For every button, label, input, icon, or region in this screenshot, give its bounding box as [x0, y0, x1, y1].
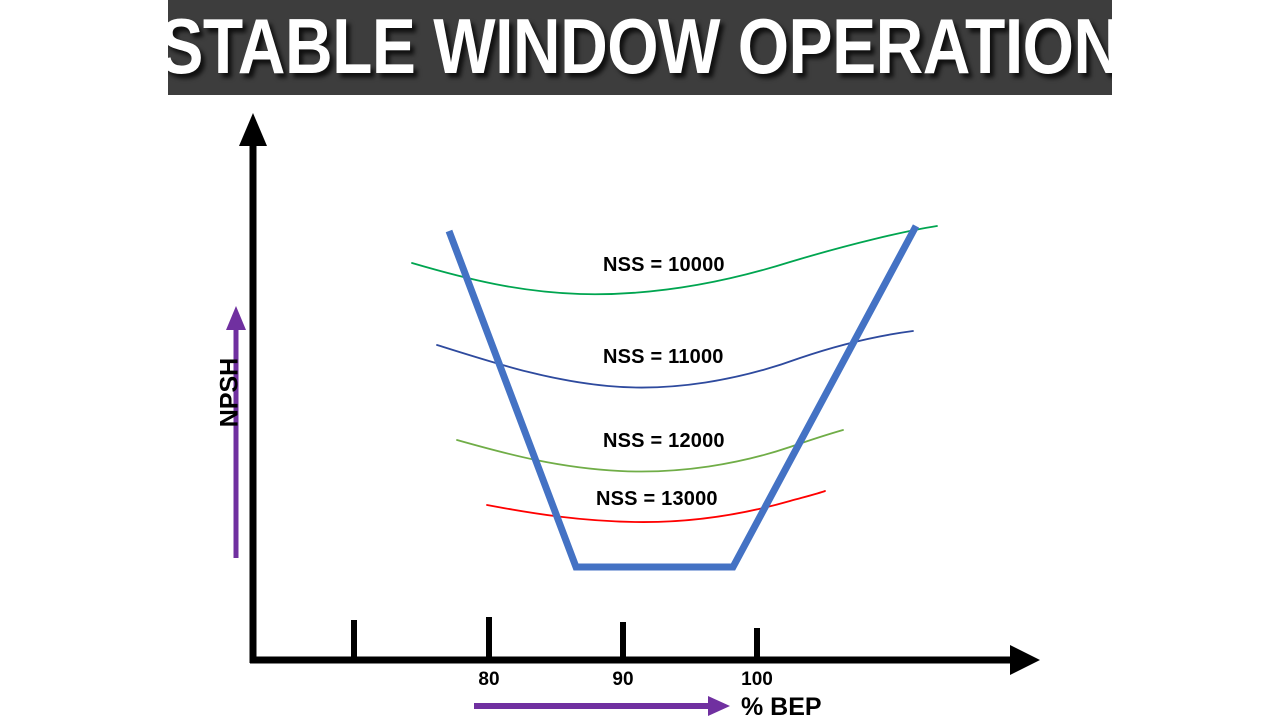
- y-axis-title: NPSH: [216, 348, 245, 438]
- x-axis-direction-arrow: [474, 696, 730, 716]
- annotation-nss-13000: NSS = 13000: [596, 488, 718, 511]
- annotation-nss-12000: NSS = 12000: [603, 430, 725, 453]
- annotation-nss-11000: NSS = 11000: [603, 346, 724, 369]
- x-tick-label-80: 80: [454, 669, 524, 691]
- stable-window-envelope: [449, 226, 916, 567]
- annotation-nss-10000: NSS = 10000: [603, 254, 725, 277]
- x-axis-title: % BEP: [741, 693, 822, 720]
- x-tick-label-90: 90: [588, 669, 658, 691]
- x-tick-label-100: 100: [722, 669, 792, 691]
- x-axis-ticks: [354, 617, 757, 660]
- slide-canvas: STABLE WINDOW OPERATION: [0, 0, 1280, 720]
